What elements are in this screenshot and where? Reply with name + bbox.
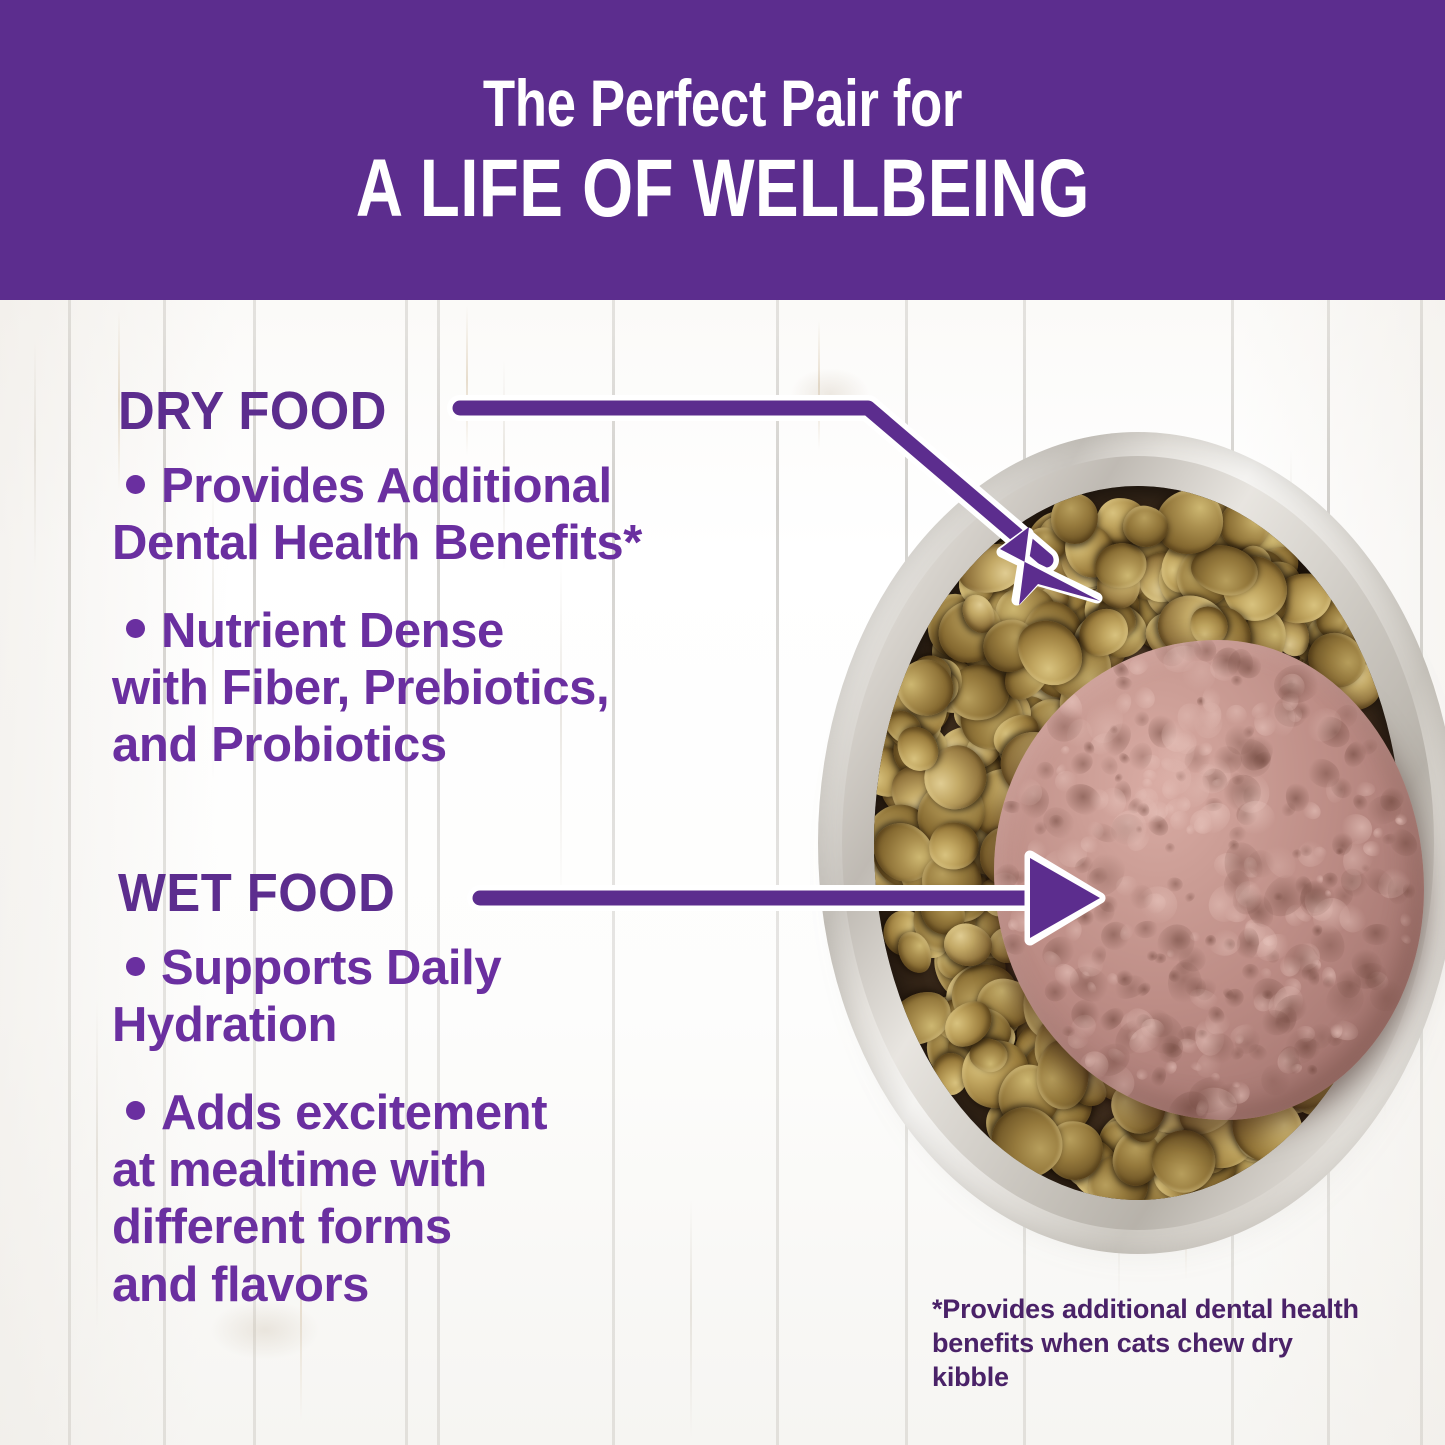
bullet-dot-icon — [126, 619, 145, 638]
pet-food-bowl-image — [818, 432, 1445, 1262]
bullet-text-line: Dental Health Benefits* — [112, 516, 642, 570]
bullet-text-line: Adds excitement — [161, 1086, 547, 1140]
bullet-dot-icon — [126, 1101, 145, 1120]
bullet-text-line: Hydration — [112, 998, 337, 1052]
list-item: Adds excitement at mealtime with differe… — [112, 1085, 812, 1314]
bullet-text-line: with Fiber, Prebiotics, — [112, 661, 609, 715]
bullet-text-line: and flavors — [112, 1258, 369, 1312]
bullet-dot-icon — [126, 957, 145, 976]
bullet-text-line: and Probiotics — [112, 718, 447, 772]
list-item: Nutrient Dense with Fiber, Prebiotics, a… — [112, 603, 812, 775]
header-banner: The Perfect Pair for A Life of Wellbeing — [0, 0, 1445, 300]
bullet-text-line: different forms — [112, 1200, 452, 1254]
bullet-dot-icon — [126, 475, 145, 494]
product-infographic: The Perfect Pair for A Life of Wellbeing… — [0, 0, 1445, 1445]
banner-headline-primary: The Perfect Pair for — [483, 70, 962, 137]
section-heading-wet-food: WET FOOD — [118, 862, 395, 924]
footnote-line: benefits when cats chew dry kibble — [932, 1326, 1362, 1394]
wet-food-bullet-list: Supports Daily Hydration Adds excitement… — [112, 940, 812, 1314]
bullet-text-line: Nutrient Dense — [161, 604, 504, 658]
bullet-text-line: at mealtime with — [112, 1143, 487, 1197]
list-item: Supports Daily Hydration — [112, 940, 812, 1055]
benefits-column: DRY FOOD Provides Additional Dental Heal… — [0, 300, 830, 1445]
section-heading-dry-food: DRY FOOD — [118, 380, 387, 442]
dry-food-bullet-list: Provides Additional Dental Health Benefi… — [112, 458, 812, 775]
footnote-disclaimer: *Provides additional dental health benef… — [932, 1292, 1362, 1394]
bullet-text-line: Supports Daily — [161, 941, 501, 995]
banner-headline-secondary: A Life of Wellbeing — [355, 147, 1089, 231]
bullet-text-line: Provides Additional — [161, 459, 612, 513]
list-item: Provides Additional Dental Health Benefi… — [112, 458, 812, 573]
footnote-line: *Provides additional dental health — [932, 1292, 1362, 1326]
